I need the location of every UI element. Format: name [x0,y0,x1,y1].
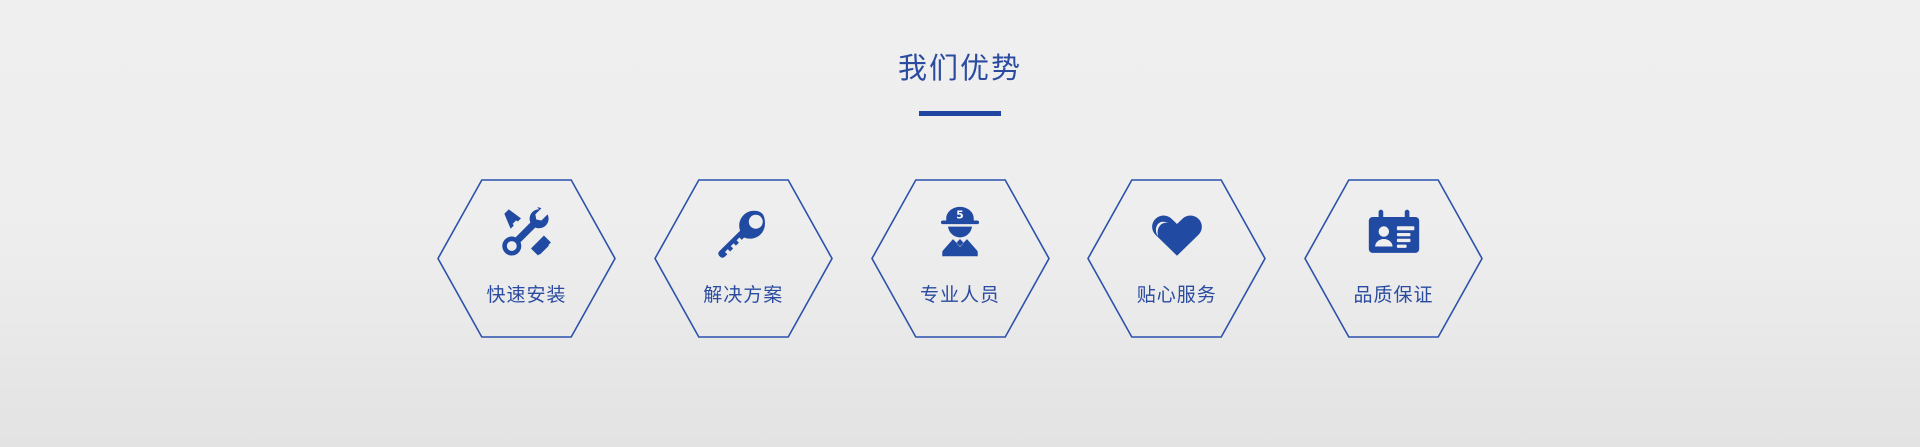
worker-person-icon: 5 [929,201,991,263]
wrench-screwdriver-icon [496,201,558,263]
svg-text:5: 5 [956,208,963,221]
feature-label: 贴心服务 [1087,282,1266,308]
feature-label: 专业人员 [871,282,1050,308]
key-icon [712,201,774,263]
id-badge-certificate-icon [1363,201,1425,263]
feature-item-quality-assurance[interactable]: 品质保证 [1304,179,1483,338]
feature-label: 快速安装 [437,282,616,308]
feature-hexagon-row: 快速安装 解决方案 5 [437,179,1483,339]
feature-item-solutions[interactable]: 解决方案 [654,179,833,338]
advantages-section: 我们优势 快速安装 [0,0,1920,447]
heart-icon [1146,201,1208,263]
feature-item-professional-staff[interactable]: 5 专业人员 [871,179,1050,338]
feature-item-thoughtful-service[interactable]: 贴心服务 [1087,179,1266,338]
page-title: 我们优势 [0,48,1920,88]
section-heading: 我们优势 [0,48,1920,116]
feature-label: 品质保证 [1304,282,1483,308]
title-underline-rule [919,111,1001,116]
feature-label: 解决方案 [654,282,833,308]
feature-item-fast-installation[interactable]: 快速安装 [437,179,616,338]
